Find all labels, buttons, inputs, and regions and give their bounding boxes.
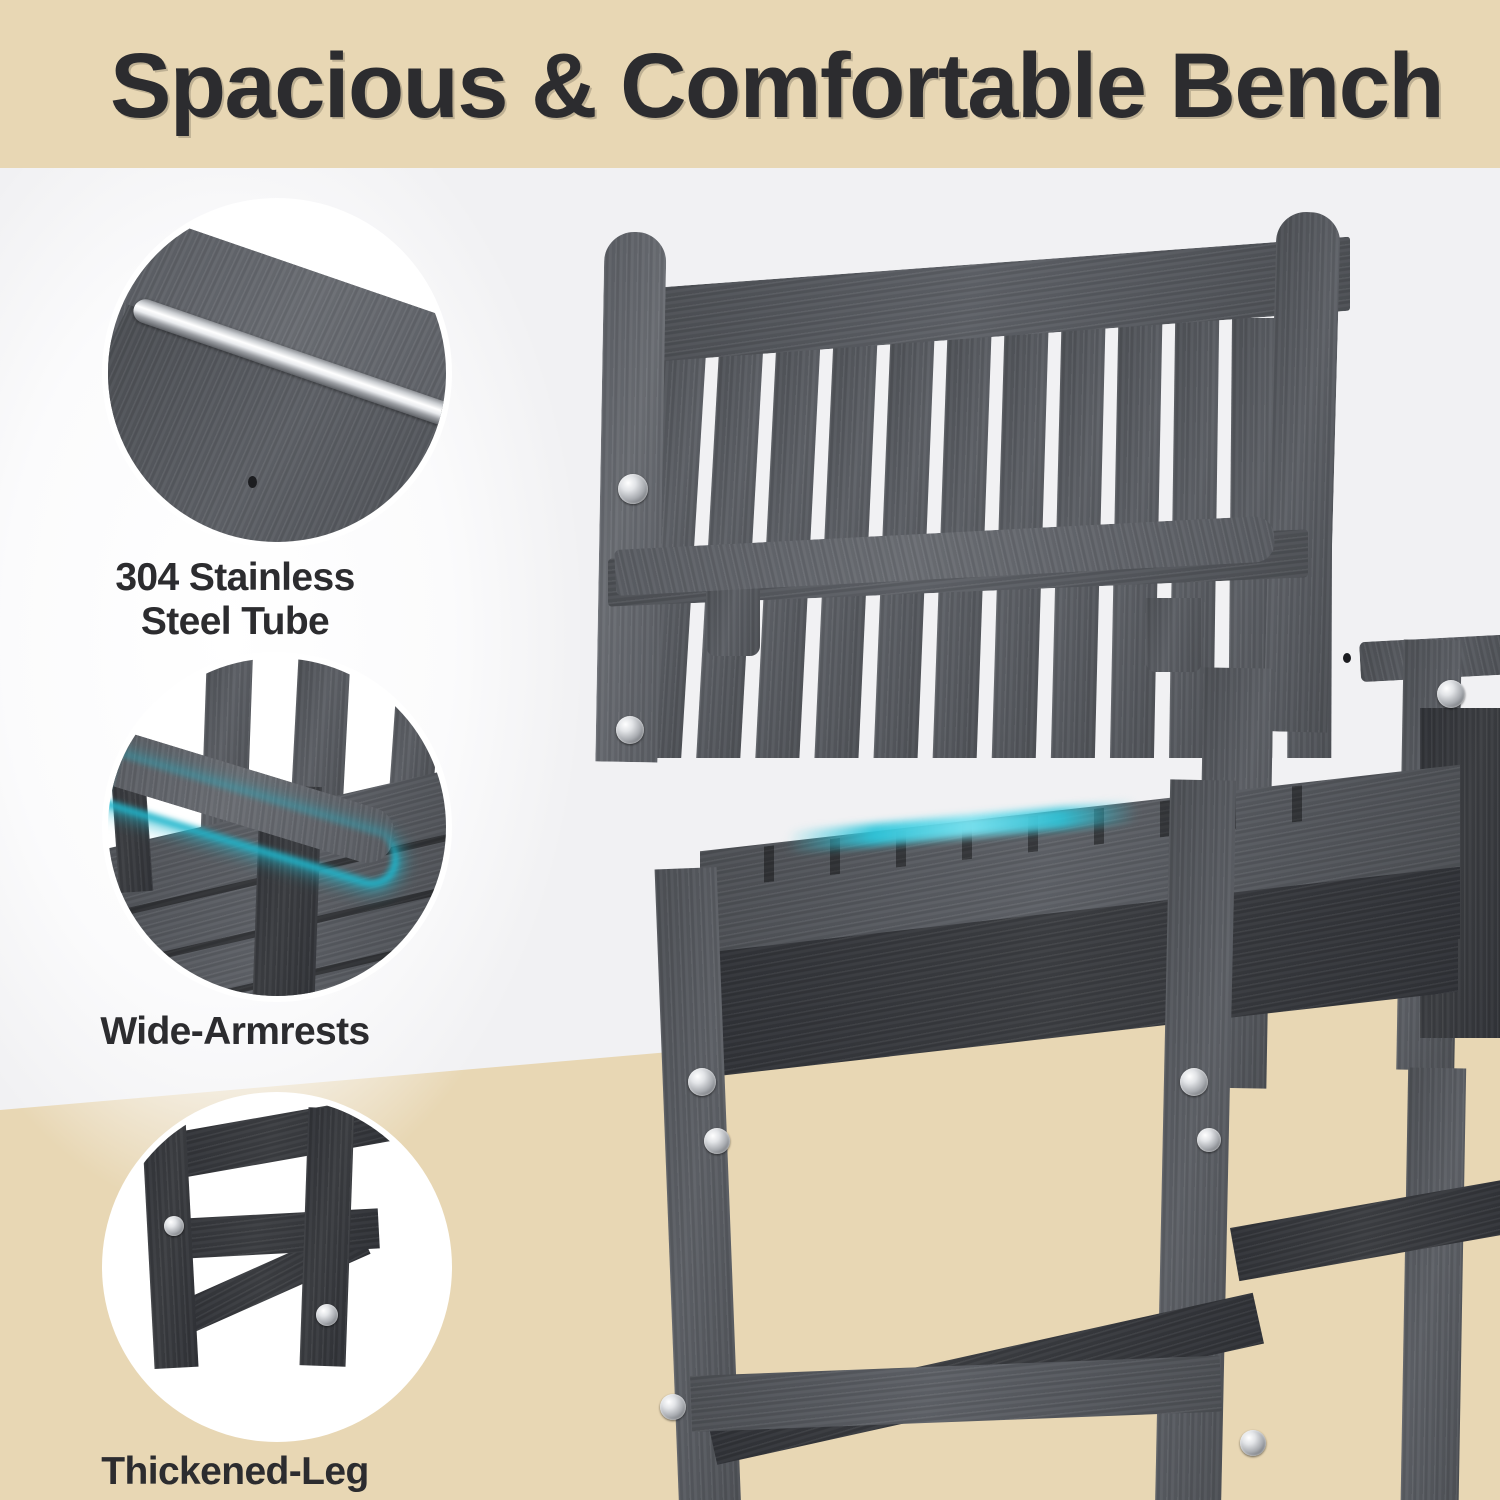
bolt-icon xyxy=(1197,1128,1221,1152)
screw-hole-icon xyxy=(1343,653,1351,663)
bolt-icon xyxy=(660,1394,686,1420)
right-leg-detail xyxy=(300,1107,355,1366)
bolt-icon xyxy=(316,1304,338,1326)
callout-wide-armrests: Wide-Armrests xyxy=(0,658,560,1054)
armrest-support-right xyxy=(1146,598,1202,672)
bolt-icon xyxy=(1180,1068,1208,1096)
armrest-support-left xyxy=(706,586,760,656)
bolt-icon xyxy=(164,1216,184,1236)
callout-label-line1: Wide-Armrests xyxy=(0,1010,470,1054)
bolt-icon xyxy=(616,716,644,744)
callout-label-wide-armrests: Wide-Armrests xyxy=(0,1010,470,1054)
callout-label-stainless-tube: 304 Stainless Steel Tube xyxy=(0,556,470,645)
callout-label-line1: 304 Stainless xyxy=(0,556,470,600)
page-title: Spacious & Comfortable Bench xyxy=(110,34,1443,139)
bolt-icon xyxy=(1240,1430,1266,1456)
bolt-icon xyxy=(618,474,648,504)
callout-image-stainless-tube xyxy=(108,204,446,542)
header-band: Spacious & Comfortable Bench xyxy=(0,0,1500,168)
bolt-icon xyxy=(704,1128,730,1154)
callout-thickened-leg: Thickened-Leg xyxy=(0,1098,560,1494)
callout-label-thickened-leg: Thickened-Leg xyxy=(0,1450,470,1494)
callout-image-wide-armrests xyxy=(108,658,446,996)
leg-stretcher xyxy=(690,1356,1222,1432)
bench-far-leg xyxy=(1400,1068,1466,1500)
seat-frame-detail xyxy=(166,1098,400,1179)
bolt-icon xyxy=(1437,680,1465,708)
callout-label-line1: Thickened-Leg xyxy=(0,1450,470,1494)
callout-label-line2: Steel Tube xyxy=(0,600,470,644)
product-stage: 304 Stainless Steel Tube Wide-Armrests xyxy=(0,168,1500,1500)
bench-right-post xyxy=(1263,211,1341,732)
bolt-icon xyxy=(688,1068,716,1096)
callout-stainless-tube: 304 Stainless Steel Tube xyxy=(0,204,560,645)
screw-hole-icon xyxy=(248,476,257,488)
callout-image-thickened-leg xyxy=(108,1098,446,1436)
